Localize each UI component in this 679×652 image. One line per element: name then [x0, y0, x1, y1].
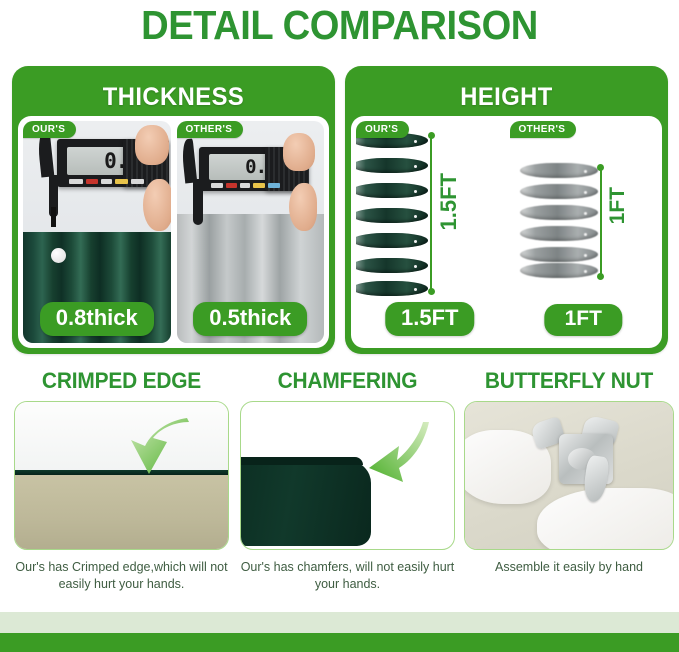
value-pill-ours-height: 1.5FT [385, 302, 474, 336]
value-pill-others-height: 1FT [545, 304, 622, 336]
green-arrow-icon [365, 420, 437, 486]
feature-caption-chamfering: Our's has chamfers, will not easily hurt… [240, 559, 455, 593]
measure-label-ours: 1.5FT [436, 173, 462, 230]
coil-green-icon [356, 133, 428, 293]
value-pill-ours-thickness: 0.8thick [40, 302, 154, 336]
feature-caption-crimped-edge: Our's has Crimped edge,which will not ea… [14, 559, 229, 593]
green-arrow-icon [127, 416, 197, 478]
feature-butterfly-nut: BUTTERFLY NUT Assemble it easily by hand [464, 368, 674, 576]
thickness-ours: 0.8 OUR'S [23, 121, 171, 343]
panel-body-thickness: 0.8 OUR'S [18, 116, 329, 348]
panel-title-thickness: THICKNESS [20, 83, 327, 112]
height-others: 1FT OTHER'S 1FT [510, 121, 658, 343]
value-pill-others-thickness: 0.5thick [193, 302, 307, 336]
tag-ours-thickness: OUR'S [23, 121, 76, 138]
tag-ours-height: OUR'S [356, 121, 409, 138]
comparison-panel-thickness: THICKNESS 0.8 [12, 66, 335, 354]
feature-caption-butterfly-nut: Assemble it easily by hand [464, 559, 674, 576]
panel-body-height: 1.5FT OUR'S 1.5FT 1FT OTHER'S 1FT [351, 116, 662, 348]
panel-title-height: HEIGHT [353, 83, 660, 112]
feature-chamfering: CHAMFERING Our's has chamfers, will not … [240, 368, 455, 593]
bottom-green-band [0, 633, 679, 652]
measure-rule-ours [430, 135, 432, 292]
tag-others-thickness: OTHER'S [177, 121, 244, 138]
feature-title-crimped-edge: CRIMPED EDGE [19, 368, 223, 394]
measure-rule-others [600, 167, 602, 277]
feature-image-crimped-edge [14, 401, 229, 550]
feature-image-butterfly-nut [464, 401, 674, 550]
feature-title-butterfly-nut: BUTTERFLY NUT [469, 368, 669, 394]
feature-title-chamfering: CHAMFERING [245, 368, 449, 394]
measure-label-others: 1FT [606, 187, 630, 224]
page-title: DETAIL COMPARISON [24, 2, 655, 49]
feature-image-chamfering [240, 401, 455, 550]
tag-others-height: OTHER'S [510, 121, 577, 138]
bottom-light-band [0, 612, 679, 633]
thickness-others: 0.5 OTHER'S 0.5thic [177, 121, 325, 343]
coil-gray-icon [520, 163, 598, 275]
comparison-panel-height: HEIGHT 1.5FT OUR'S 1.5FT [345, 66, 668, 354]
feature-crimped-edge: CRIMPED EDGE Our's has Crimped edge,whic… [14, 368, 229, 593]
height-ours: 1.5FT OUR'S 1.5FT [356, 121, 504, 343]
